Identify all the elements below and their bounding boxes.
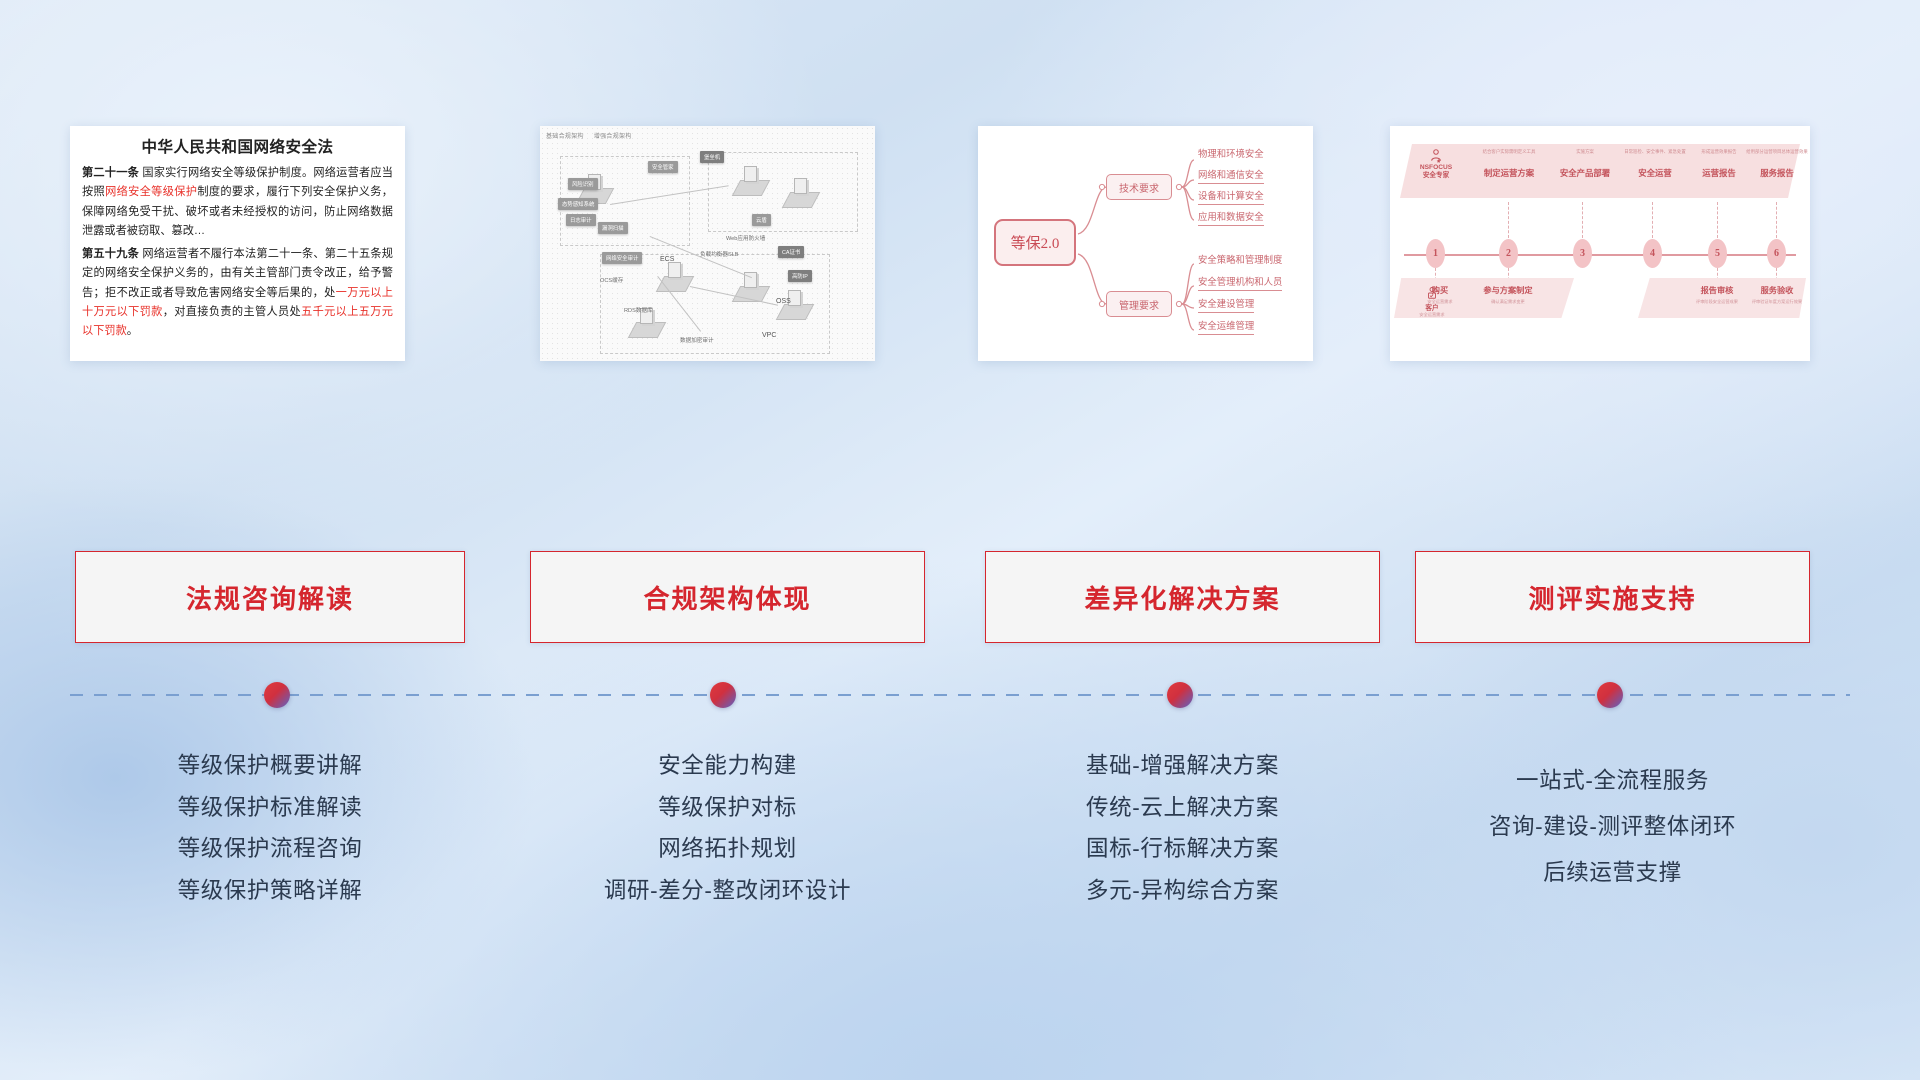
timeline-dashed-line (70, 694, 1850, 696)
header-label-3: 差异化解决方案 (1084, 579, 1280, 616)
mindmap-leaf-tech-1: 物理和环境安全 (1198, 146, 1264, 162)
article-21-highlight: 网络安全等级保护 (105, 186, 197, 198)
card-mps20-mindmap[interactable]: 等保2.0 技术要求 (978, 126, 1313, 361)
detail-column-row: 等级保护概要讲解 等级保护标准解读 等级保护流程咨询 等级保护策略详解 安全能力… (0, 745, 1920, 945)
article-59-text-c: 。 (127, 325, 138, 337)
timeline-step-2-sub: 结合客户实际需明定义工具 (1472, 150, 1546, 154)
timeline-lead-3 (1582, 202, 1583, 238)
arch-node-highdefense-ip: 高防IP (788, 270, 812, 282)
customer-step-4-main: 服务验收 (1738, 284, 1810, 296)
architecture-diagram-title: 基础合规架构增强合规架构 (546, 131, 642, 140)
timeline-step-6-main: 服务报告 (1744, 167, 1810, 179)
customer-step-4-sub: 评审验证年度方案运行效果 (1738, 299, 1810, 305)
arch-node-vuln-scan: 漏洞扫描 (598, 222, 628, 234)
timeline-customer-step-1: 购买 安全运营需求 (1418, 284, 1462, 305)
detail-3-line-1: 基础-增强解决方案 (985, 745, 1380, 787)
law-article-59: 第五十九条 网络运营者不履行本法第二十一条、第二十五条规定的网络安全保护义务的，… (82, 245, 393, 341)
detail-1-line-4: 等级保护策略详解 (75, 870, 465, 912)
customer-step-2-sub: 确认满足需求变更 (1468, 299, 1548, 305)
article-59-label: 第五十九条 (82, 248, 139, 260)
expert-label-brand: NSFOCUS (1410, 164, 1462, 172)
detail-column-2: 安全能力构建 等级保护对标 网络拓扑规划 调研-差分-整改闭环设计 (530, 745, 925, 912)
mindmap-leaf-mgmt-1: 安全策略和管理制度 (1198, 252, 1282, 268)
arch-label-slb: 负载均衡器SLB (700, 250, 739, 258)
arch-label-ecs: ECS (660, 256, 674, 263)
header-box-assessment-support[interactable]: 测评实施支持 (1415, 551, 1810, 643)
header-box-differentiated-solution[interactable]: 差异化解决方案 (985, 551, 1380, 643)
customer-sub-label: 安全运营需求 (1404, 312, 1460, 318)
arch-dash-region-2 (708, 152, 858, 232)
detail-3-line-4: 多元-异构综合方案 (985, 870, 1380, 912)
mindmap-leaf-tech-4: 应用和数据安全 (1198, 209, 1264, 226)
arch-server-2 (744, 166, 757, 182)
mindmap-branch-management: 管理要求 (1106, 291, 1172, 317)
mindmap-leaf-mgmt-3: 安全建设管理 (1198, 296, 1254, 313)
timeline-lead-2 (1508, 202, 1509, 238)
arch-node-ca: CA证书 (778, 246, 804, 258)
arch-server-3 (794, 178, 807, 194)
card-cybersecurity-law[interactable]: 中华人民共和国网络安全法 第二十一条 国家实行网络安全等级保护制度。网络运营者应… (70, 126, 405, 361)
article-21-label: 第二十一条 (82, 167, 139, 179)
detail-3-line-2: 传统-云上解决方案 (985, 787, 1380, 829)
customer-step-1-main: 购买 (1418, 284, 1462, 296)
timeline-dot-5: 5 (1708, 239, 1727, 268)
mindmap-branch-technical: 技术要求 (1106, 174, 1172, 200)
arch-label-vpc: VPC (762, 332, 776, 339)
timeline-dot-2: 2 (1499, 239, 1518, 268)
timeline-step-5-main: 运营报告 (1686, 167, 1752, 179)
customer-step-2-main: 参与方案制定 (1468, 284, 1548, 296)
law-title: 中华人民共和国网络安全法 (82, 135, 393, 157)
arch-label-waf: Web应用防火墙 (726, 234, 765, 242)
service-timeline: NSFOCUS 安全专家 结合客户实际需明定义工具 制定运营方案 实施方案 安全… (1390, 126, 1810, 361)
arch-node-bastion: 堡垒机 (700, 151, 724, 163)
timeline-step-2-main: 制定运营方案 (1472, 167, 1546, 179)
timeline-step-5: 形成运营效果报告 运营报告 (1686, 150, 1752, 179)
timeline-dot-3: 3 (1573, 239, 1592, 268)
arch-node-security-housekeeper: 安全管家 (648, 161, 678, 173)
card-nsfocus-timeline[interactable]: NSFOCUS 安全专家 结合客户实际需明定义工具 制定运营方案 实施方案 安全… (1390, 126, 1810, 361)
detail-2-line-4: 调研-差分-整改闭环设计 (530, 870, 925, 912)
arch-label-oss: OSS (776, 298, 791, 305)
expert-label-role: 安全专家 (1410, 172, 1462, 180)
timeline-step-4-main: 安全运营 (1618, 167, 1692, 179)
mindmap-leaf-mgmt-4: 安全运维管理 (1198, 318, 1254, 335)
timeline-step-2: 结合客户实际需明定义工具 制定运营方案 (1472, 150, 1546, 179)
arch-node-risk: 风险识别 (568, 178, 598, 190)
law-document: 中华人民共和国网络安全法 第二十一条 国家实行网络安全等级保护制度。网络运营者应… (70, 126, 405, 341)
timeline-expert-role: NSFOCUS 安全专家 (1410, 148, 1462, 180)
detail-1-line-1: 等级保护概要讲解 (75, 745, 465, 787)
card-compliance-architecture[interactable]: 基础合规架构增强合规架构 (540, 126, 875, 361)
arch-title-enhanced: 增强合规架构 (594, 134, 632, 140)
customer-step-1-sub: 安全运营需求 (1418, 299, 1462, 305)
timeline-marker-3[interactable] (1167, 682, 1193, 708)
arch-node-log-audit: 日志审计 (566, 214, 596, 226)
architecture-diagram: 基础合规架构增强合规架构 (540, 126, 875, 361)
arch-label-data-encrypt-audit: 数据加密审计 (680, 336, 714, 344)
timeline-step-6-sub: 给用部分运营项目总体运营效果 (1744, 150, 1810, 154)
timeline-marker-2[interactable] (710, 682, 736, 708)
detail-4-line-3: 后续运营支撑 (1415, 850, 1810, 896)
timeline-step-6: 给用部分运营项目总体运营效果 服务报告 (1744, 150, 1810, 179)
timeline-lead-4 (1652, 202, 1653, 238)
timeline-step-4-sub: 日常巡检、安全事件、紧急处置 (1618, 150, 1692, 154)
article-59-text-b: ，对直接负责的主管人员处 (163, 306, 301, 318)
detail-4-line-1: 一站式-全流程服务 (1415, 758, 1810, 804)
timeline-dot-1: 1 (1426, 239, 1445, 268)
timeline-step-3-main: 安全产品部署 (1548, 167, 1622, 179)
detail-1-line-2: 等级保护标准解读 (75, 787, 465, 829)
media-card-row: 中华人民共和国网络安全法 第二十一条 国家实行网络安全等级保护制度。网络运营者应… (0, 126, 1920, 361)
timeline-customer-step-2: 参与方案制定 确认满足需求变更 (1468, 284, 1548, 305)
timeline-marker-4[interactable] (1597, 682, 1623, 708)
detail-3-line-3: 国标-行标解决方案 (985, 828, 1380, 870)
header-label-2: 合规架构体现 (643, 579, 811, 616)
mindmap-leaf-tech-3: 设备和计算安全 (1198, 188, 1264, 205)
timeline-dot-4: 4 (1643, 239, 1662, 268)
mindmap-leaf-mgmt-2: 安全管理机构和人员 (1198, 274, 1282, 291)
arch-label-ocs: OCS缓存 (600, 276, 623, 284)
section-header-row: 法规咨询解读 合规架构体现 差异化解决方案 测评实施支持 (0, 551, 1920, 643)
detail-column-4: 一站式-全流程服务 咨询-建设-测评整体闭环 后续运营支撑 (1415, 745, 1810, 896)
mindmap-root-node: 等保2.0 (994, 219, 1076, 266)
timeline-lead-6 (1776, 202, 1777, 238)
arch-node-net-audit: 网络安全审计 (602, 252, 642, 264)
detail-2-line-1: 安全能力构建 (530, 745, 925, 787)
timeline-dot-6: 6 (1767, 239, 1786, 268)
timeline-axis-line (1404, 254, 1796, 256)
arch-label-rds: RDS数据库 (624, 306, 653, 314)
header-label-1: 法规咨询解读 (186, 579, 354, 616)
timeline-step-3-sub: 实施方案 (1548, 150, 1622, 154)
header-label-4: 测评实施支持 (1528, 579, 1696, 616)
detail-2-line-3: 网络拓扑规划 (530, 828, 925, 870)
timeline-step-5-sub: 形成运营效果报告 (1686, 150, 1752, 154)
mindmap: 等保2.0 技术要求 (978, 126, 1313, 361)
mindmap-leaf-tech-2: 网络和通信安全 (1198, 167, 1264, 184)
detail-4-line-2: 咨询-建设-测评整体闭环 (1415, 804, 1810, 850)
header-box-compliance-architecture[interactable]: 合规架构体现 (530, 551, 925, 643)
timeline-step-4: 日常巡检、安全事件、紧急处置 安全运营 (1618, 150, 1692, 179)
law-article-21: 第二十一条 国家实行网络安全等级保护制度。网络运营者应当按照网络安全等级保护制度… (82, 164, 393, 241)
detail-column-3: 基础-增强解决方案 传统-云上解决方案 国标-行标解决方案 多元-异构综合方案 (985, 745, 1380, 912)
detail-column-1: 等级保护概要讲解 等级保护标准解读 等级保护流程咨询 等级保护策略详解 (75, 745, 465, 912)
arch-server-4 (668, 262, 681, 278)
progress-timeline (70, 694, 1850, 696)
detail-1-line-3: 等级保护流程咨询 (75, 828, 465, 870)
slide-canvas: 中华人民共和国网络安全法 第二十一条 国家实行网络安全等级保护制度。网络运营者应… (0, 0, 1920, 1080)
detail-2-line-2: 等级保护对标 (530, 787, 925, 829)
arch-node-cloudshield: 云盾 (752, 214, 771, 226)
expert-person-icon (1428, 148, 1444, 164)
timeline-marker-1[interactable] (264, 682, 290, 708)
timeline-customer-step-4: 服务验收 评审验证年度方案运行效果 (1738, 284, 1810, 305)
header-box-regulation-consulting[interactable]: 法规咨询解读 (75, 551, 465, 643)
timeline-lead-5 (1717, 202, 1718, 238)
arch-title-basic: 基础合规架构 (546, 134, 584, 140)
timeline-step-3: 实施方案 安全产品部署 (1548, 150, 1622, 179)
arch-node-situation: 态势感知系统 (558, 198, 598, 210)
